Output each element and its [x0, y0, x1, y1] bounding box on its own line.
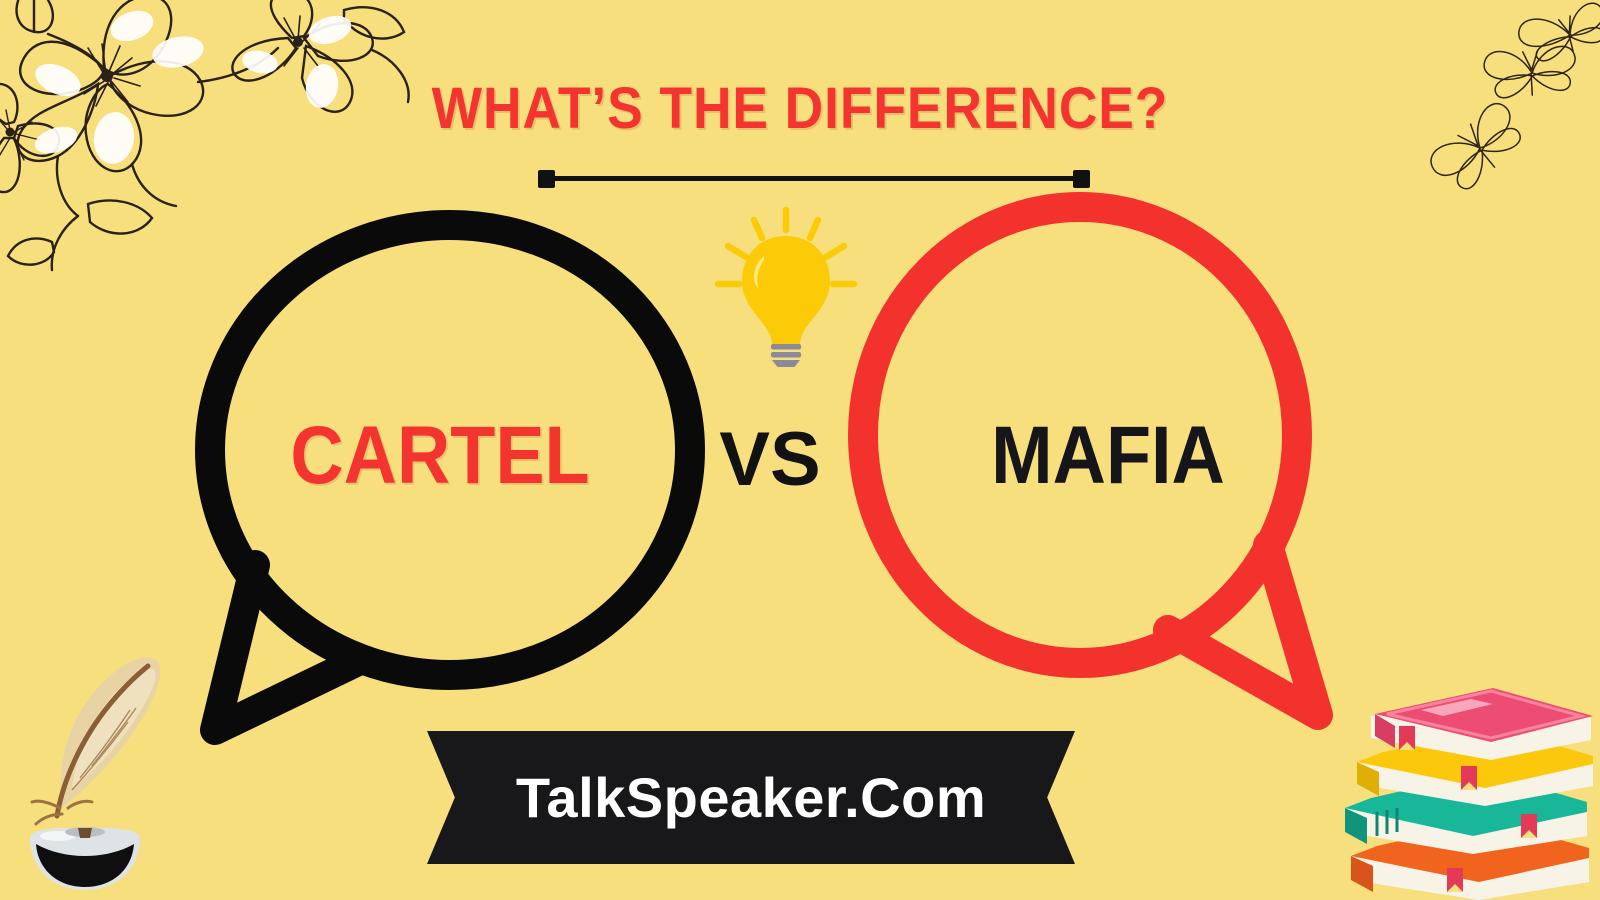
bubble-label-mafia: MAFIA — [874, 415, 1342, 497]
lightbulb-icon — [706, 202, 866, 367]
poster-canvas: WHAT’S THE DIFFERENCE? CARTEL VS MAFIA — [0, 0, 1600, 900]
versus-label: VS — [700, 422, 840, 498]
page-title: WHAT’S THE DIFFERENCE? — [64, 80, 1536, 138]
brand-label: TalkSpeaker.Com — [427, 731, 1075, 864]
brand-ribbon[interactable]: TalkSpeaker.Com — [427, 731, 1075, 864]
divider — [538, 170, 1090, 188]
divider-cap-right — [1073, 170, 1090, 188]
bubble-label-cartel: CARTEL — [188, 415, 692, 497]
divider-rule — [552, 176, 1076, 181]
